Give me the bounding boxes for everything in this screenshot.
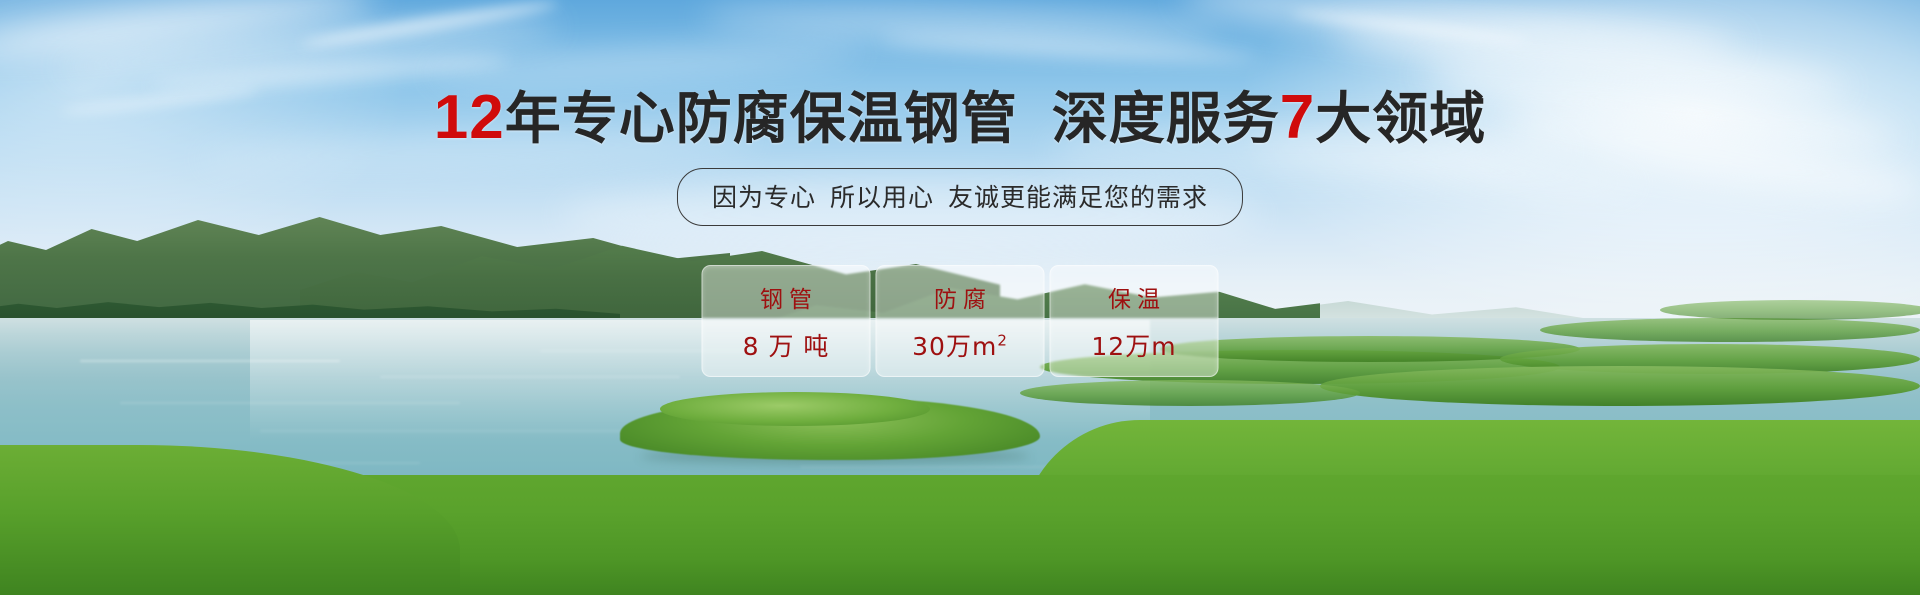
stat-card-label: 钢管	[754, 280, 818, 314]
hero-banner: 12年专心防腐保温钢管深度服务7大领域 因为专心所以用心友诚更能满足您的需求 钢…	[0, 0, 1920, 595]
headline-part1: 年专心防腐保温钢管	[505, 87, 1018, 152]
stat-card-label: 防腐	[928, 280, 992, 314]
stat-card-label: 保温	[1102, 280, 1166, 314]
island-top	[660, 392, 930, 426]
headline-part3: 大领域	[1315, 87, 1486, 152]
stat-card-value: 12万m	[1091, 327, 1176, 363]
subtitle-segment-3: 友诚更能满足您的需求	[948, 183, 1208, 212]
stat-card-group: 钢管 8 万 吨 防腐 30万m2 保温 12万m	[702, 265, 1219, 377]
stat-card-steel-pipe[interactable]: 钢管 8 万 吨	[702, 265, 871, 377]
page-title: 12年专心防腐保温钢管深度服务7大领域	[0, 86, 1920, 152]
headline-fields-number: 7	[1280, 83, 1315, 152]
subtitle-segment-1: 因为专心	[712, 183, 816, 212]
subtitle-pill: 因为专心所以用心友诚更能满足您的需求	[677, 168, 1243, 226]
headline-part2: 深度服务	[1052, 87, 1280, 152]
stat-card-anticorrosion[interactable]: 防腐 30万m2	[876, 265, 1045, 377]
stat-card-value: 30万m2	[912, 327, 1008, 363]
stat-card-value: 8 万 吨	[743, 327, 830, 363]
stat-card-insulation[interactable]: 保温 12万m	[1050, 265, 1219, 377]
stat-card-value-superscript: 2	[997, 331, 1008, 349]
subtitle-segment-2: 所以用心	[830, 183, 934, 212]
headline-years-number: 12	[434, 83, 505, 152]
